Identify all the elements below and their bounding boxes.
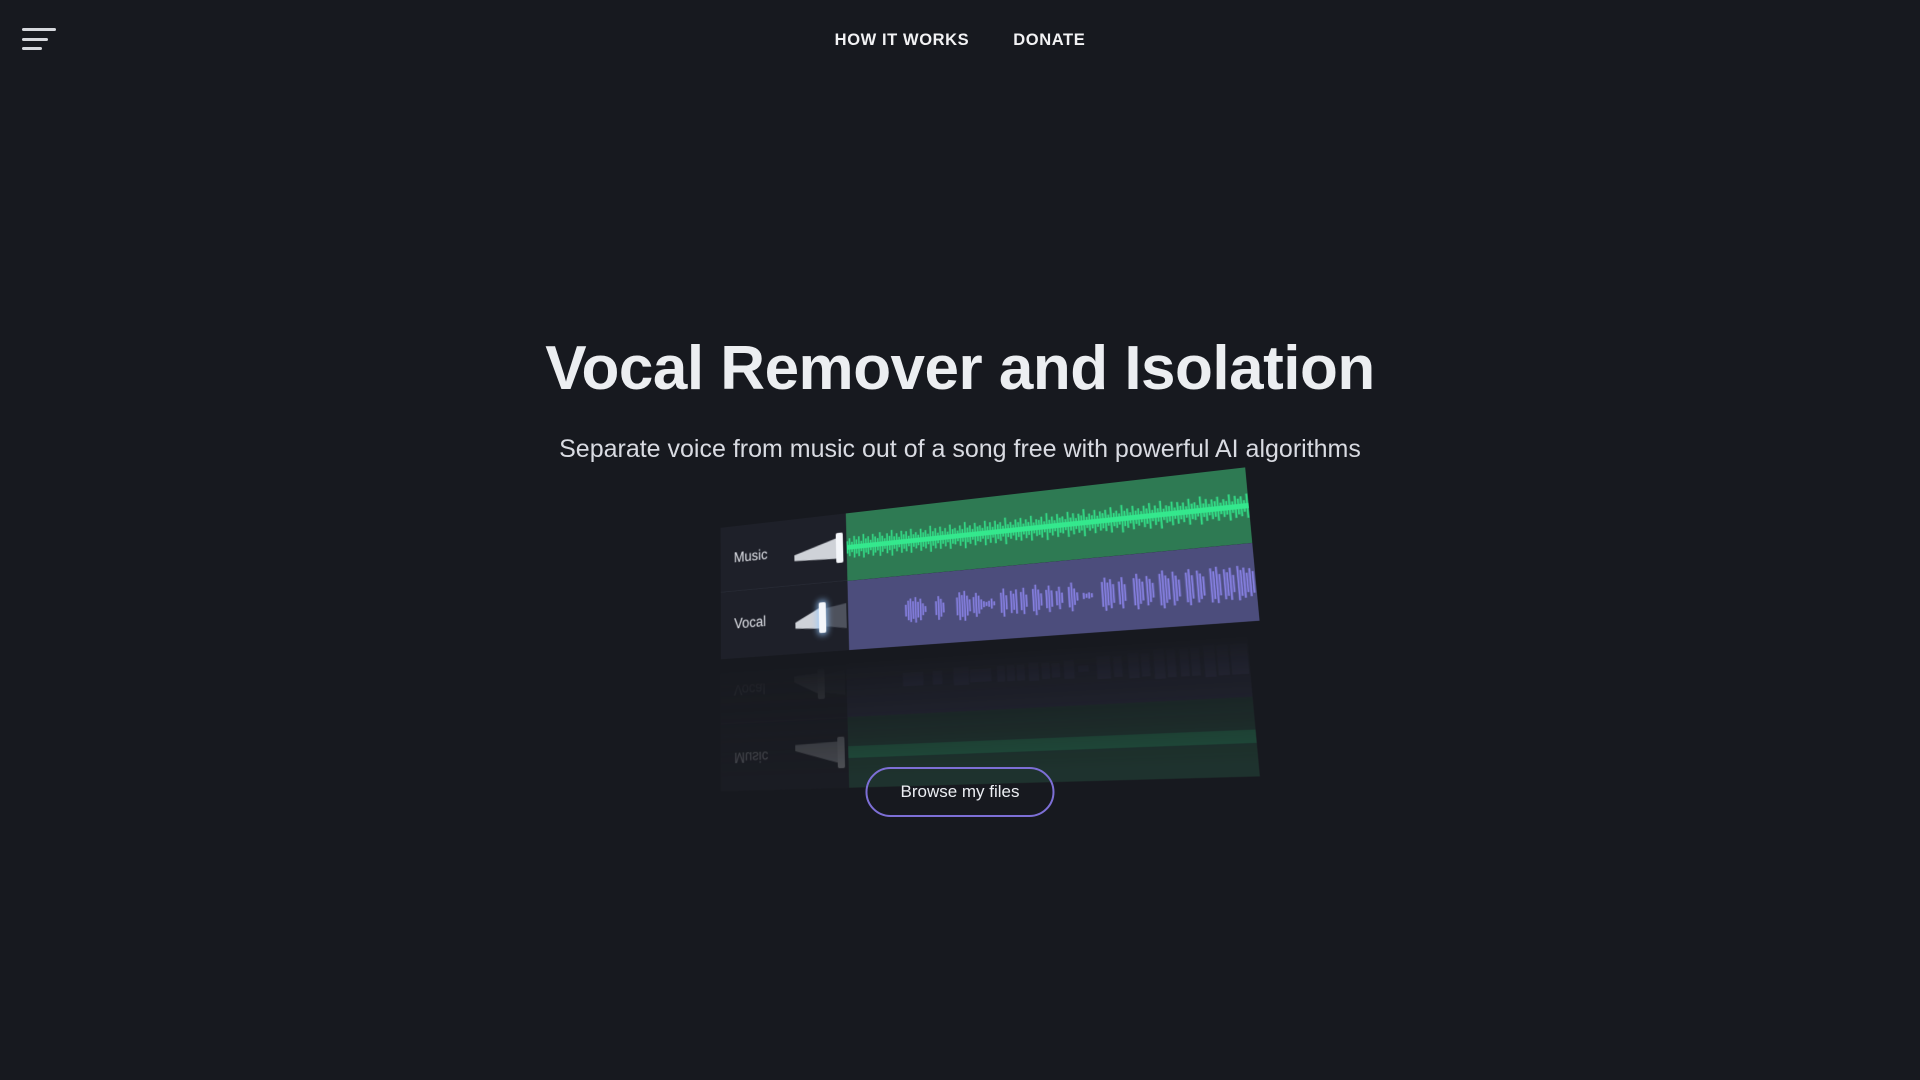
volume-fader-vocal[interactable] [795, 603, 847, 632]
hero-section: Vocal Remover and Isolation Separate voi… [0, 0, 1920, 1080]
fader-track-inactive-vocal [825, 603, 847, 630]
reflection-fader-inactive-vocal [824, 670, 846, 696]
audio-track-separation-preview: Music [690, 498, 1240, 688]
track-label-music: Music [734, 545, 786, 567]
reflection-fader-vocal [794, 670, 845, 698]
reflection-fader-handle-vocal [817, 668, 825, 699]
browse-my-files-button[interactable]: Browse my files [865, 767, 1054, 817]
reflection-label-vocal: Vocal [734, 677, 786, 697]
fader-handle-vocal[interactable] [819, 602, 827, 633]
reflection-label-music: Music [734, 746, 787, 765]
reflection-fader-music [795, 739, 847, 766]
fader-handle-music[interactable] [836, 532, 844, 563]
track-label-vocal: Vocal [734, 612, 787, 633]
page-title: Vocal Remover and Isolation [0, 336, 1920, 401]
reflection-controls-vocal: Vocal [721, 648, 848, 724]
fader-track-active-music [794, 536, 840, 565]
track-controls-music: Music [721, 513, 848, 592]
reflection-fader-track-music [795, 740, 841, 767]
reflection-fader-handle-music [837, 737, 845, 769]
reflection-controls-music: Music [721, 717, 849, 791]
volume-fader-music[interactable] [794, 535, 845, 564]
page-subtitle: Separate voice from music out of a song … [0, 435, 1920, 464]
